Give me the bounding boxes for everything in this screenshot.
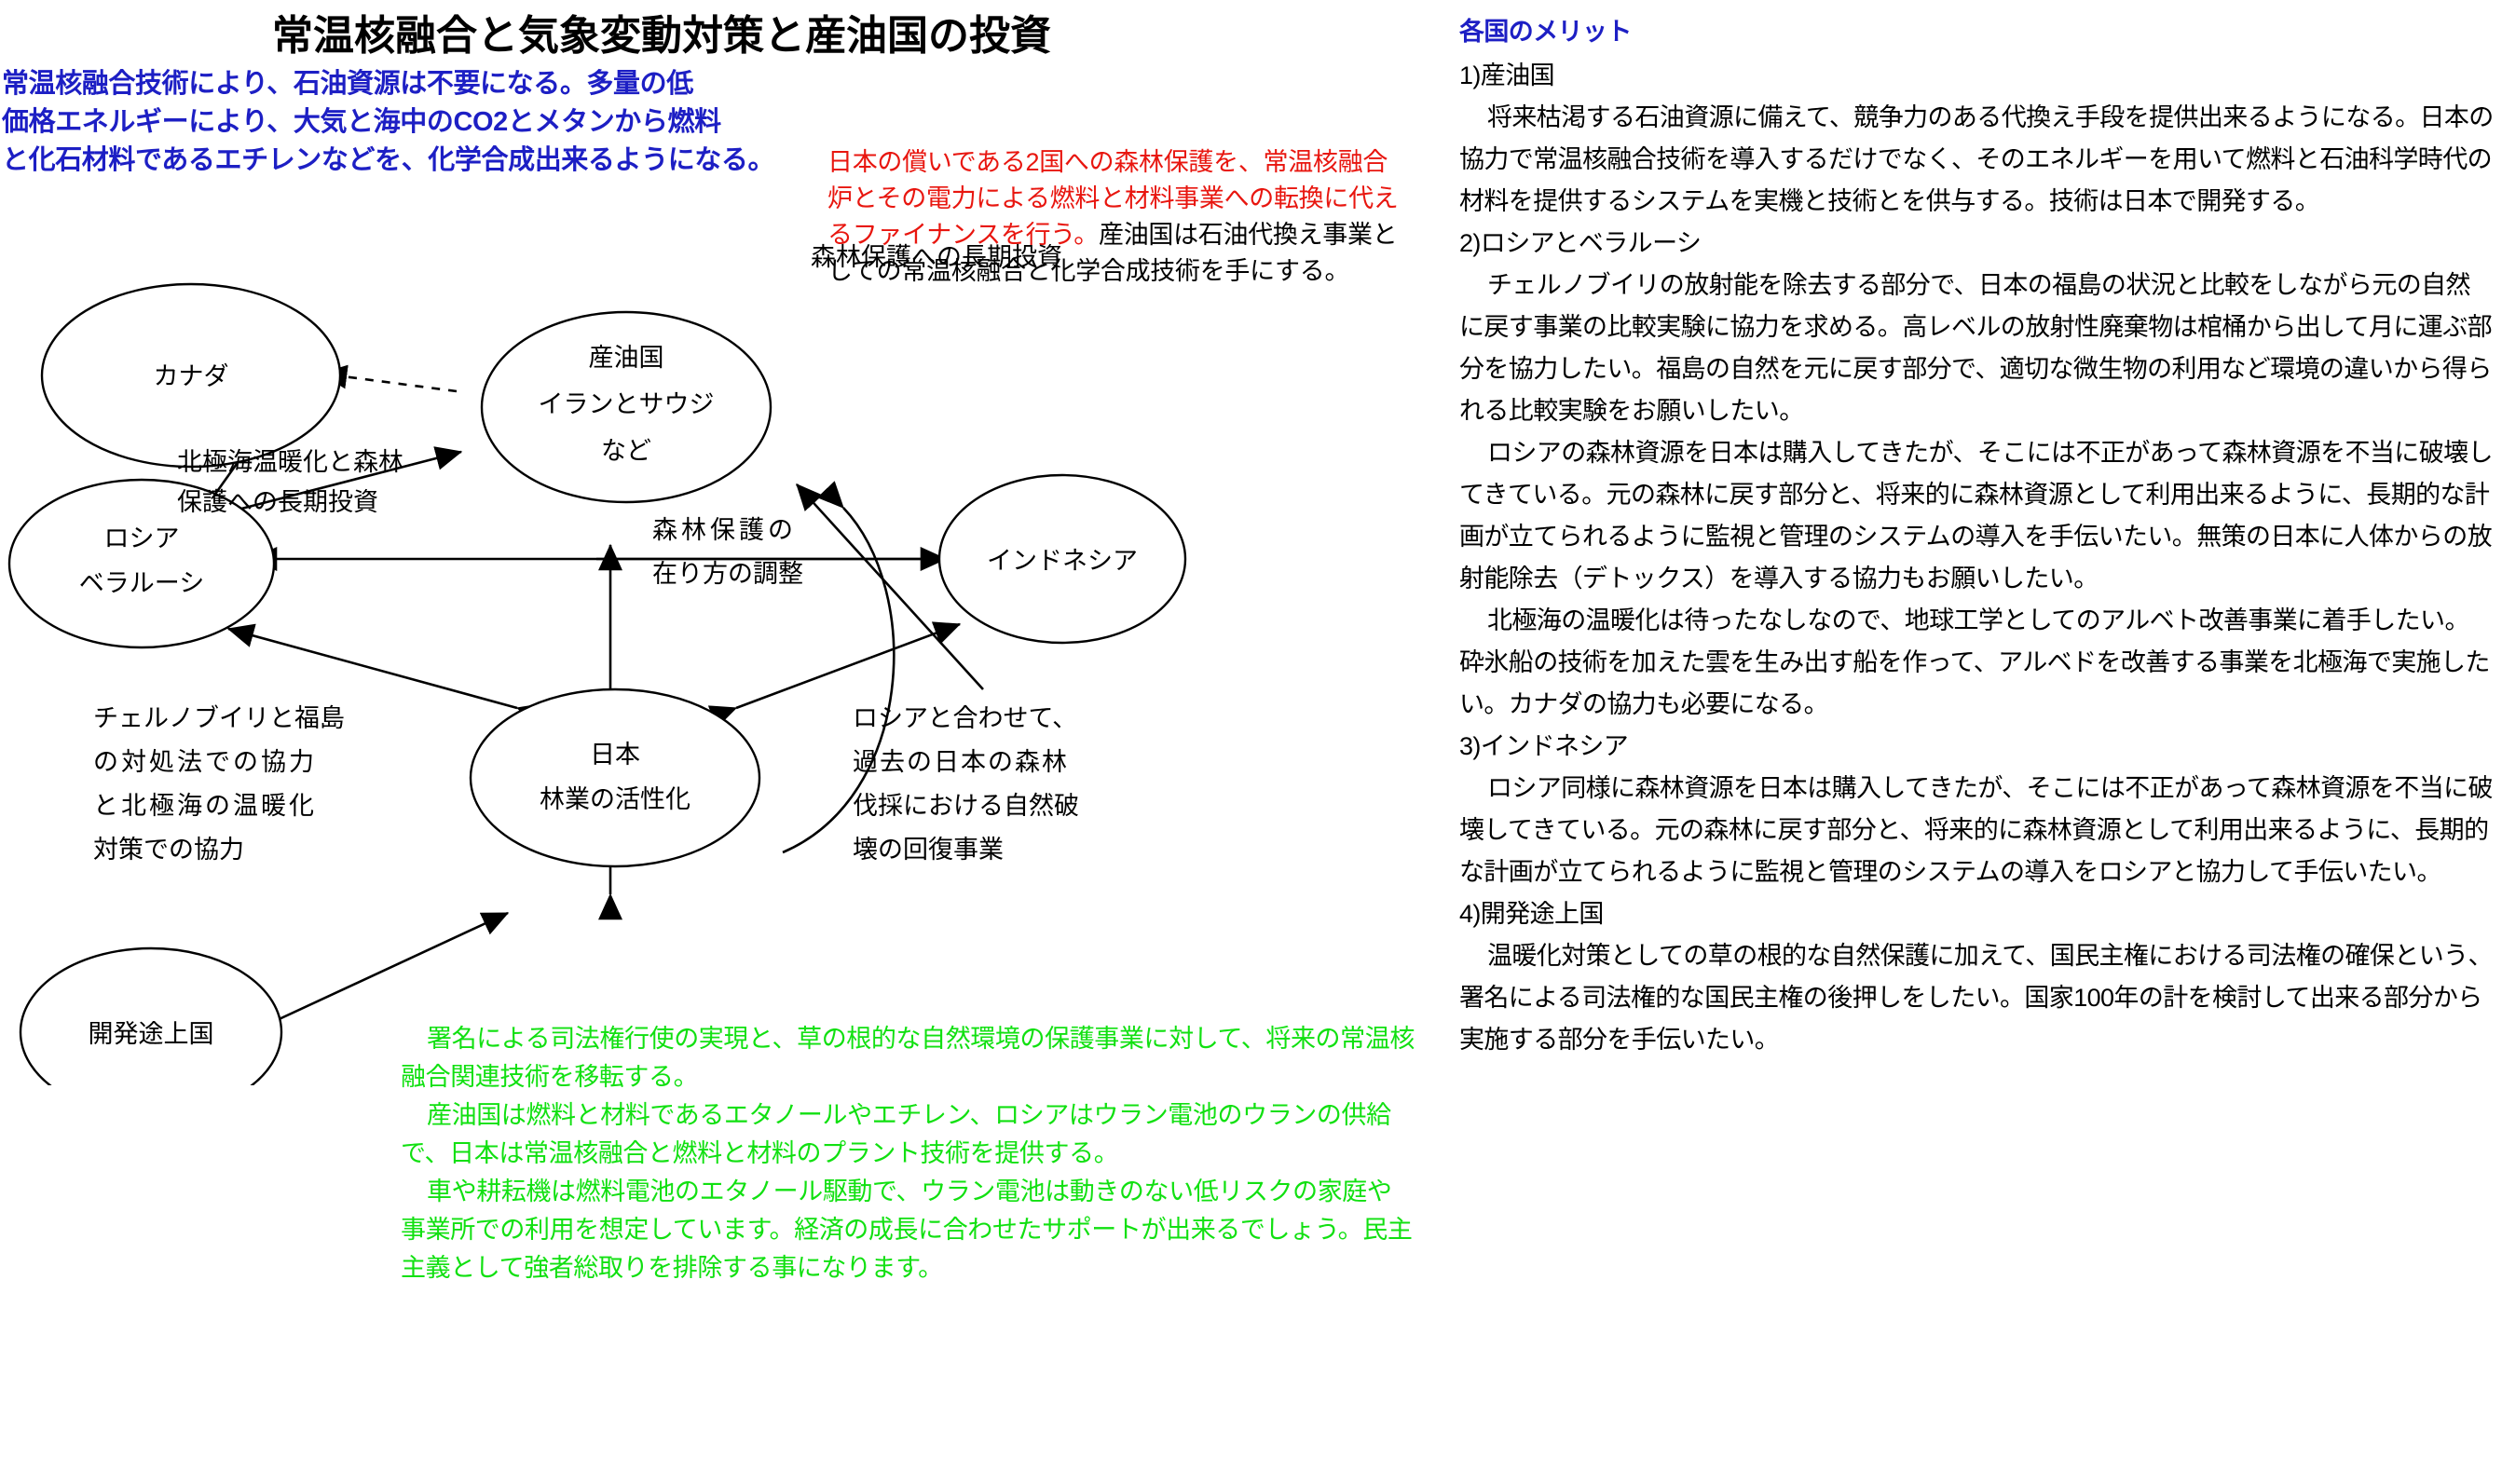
node-oil-label-3: など [601, 437, 651, 465]
page-title: 常温核融合と気象変動対策と産油国の投資 [0, 2, 1323, 61]
country-relationship-diagram: canada (dotted) --> [0, 200, 1305, 1085]
edge-label-forest-adjustment-line-1: 森林保護の [652, 516, 797, 544]
merit-section-3-body: ロシア同様に森林資源を日本は購入してきたが、そこには不正があって森林資源を不当に… [1459, 768, 2494, 893]
merit-section-2-heading: 2)ロシアとベラルーシ [1459, 223, 2494, 265]
merit-section-4-body: 温暖化対策としての草の根的な自然保護に加えて、国民主権における司法権の確保という… [1459, 935, 2494, 1061]
node-russia-label-1: ロシア [104, 524, 180, 552]
green-note-paragraph-3: 車や耕耘機は燃料電池のエタノール駆動で、ウラン電池は動きのない低リスクの家庭や事… [401, 1173, 1416, 1287]
edge-label-canada-line-1: 北極海温暖化と森林 [177, 448, 403, 476]
merit-section-4-heading: 4)開発途上国 [1459, 893, 2494, 935]
edge-oil-to-canada [321, 374, 457, 391]
node-russia-label-2: ベラルーシ [79, 569, 204, 597]
node-indonesia-label: インドネシア [987, 547, 1138, 575]
green-note-block: 署名による司法権行使の実現と、草の根的な自然環境の保護事業に対して、将来の常温核… [401, 1020, 1416, 1287]
edge-label-forest-adjustment-line-2: 在り方の調整 [652, 560, 803, 588]
edge-russia-japan [228, 629, 517, 708]
node-developing-label: 開発途上国 [89, 1020, 214, 1048]
edge-label-russia-together-line-2: 過去の日本の森林 [853, 748, 1069, 776]
merit-section-3-heading: 3)インドネシア [1459, 726, 2494, 768]
green-note-paragraph-1: 署名による司法権行使の実現と、草の根的な自然環境の保護事業に対して、将来の常温核… [401, 1020, 1416, 1096]
merit-section-2-body-3: 北極海の温暖化は待ったなしなので、地球工学としてのアルベト改善事業に着手したい。… [1459, 600, 2494, 726]
merit-section-1-body: 将来枯渇する石油資源に備えて、競争力のある代換え手段を提供出来るようになる。日本… [1459, 97, 2494, 223]
intro-blue-text: 常温核融合技術により、石油資源は不要になる。多量の低 価格エネルギーにより、大気… [2, 65, 841, 180]
edge-label-forest-adjustment: 森林保護の 在り方の調整 [652, 516, 803, 588]
edge-label-forest-long-term-line-1: 森林保護への長期投資 [811, 243, 1062, 271]
merit-section-2-body-2: ロシアの森林資源を日本は購入してきたが、そこには不正があって森林資源を不当に破壊… [1459, 432, 2494, 600]
edge-label-chernobyl-line-2: の対処法での協力 [93, 748, 317, 776]
node-indonesia[interactable]: インドネシア [939, 475, 1185, 643]
edge-label-chernobyl: チェルノブイリと福島 の対処法での協力 と北極海の温暖化 対策での協力 [93, 704, 345, 864]
merits-column: 各国のメリット 1)産油国 将来枯渇する石油資源に備えて、競争力のある代換え手段… [1459, 11, 2494, 1464]
left-column: 常温核融合と気象変動対策と産油国の投資 常温核融合技術により、石油資源は不要にな… [0, 0, 1454, 1484]
edge-label-russia-together-line-4: 壊の回復事業 [853, 836, 1004, 864]
page-root: 常温核融合と気象変動対策と産油国の投資 常温核融合技術により、石油資源は不要にな… [0, 0, 2502, 1484]
intro-line-1: 常温核融合技術により、石油資源は不要になる。多量の低 [2, 65, 841, 103]
merit-section-2-body: チェルノブイリの放射能を除去する部分で、日本の福島の状況と比較をしながら元の自然… [1459, 265, 2494, 432]
edge-label-chernobyl-line-1: チェルノブイリと福島 [93, 704, 345, 732]
edge-label-chernobyl-line-3: と北極海の温暖化 [93, 792, 317, 820]
node-oil-label-2: イランとサウジ [539, 390, 715, 418]
edge-developing-japan [247, 913, 508, 1034]
node-oil-label-1: 産油国 [589, 344, 664, 372]
edge-label-russia-together-line-3: 伐採における自然破 [853, 792, 1079, 820]
node-developing[interactable]: 開発途上国 [21, 948, 281, 1085]
edge-label-canada-line-2: 保護への長期投資 [177, 488, 378, 516]
edge-japan-indonesia [736, 624, 960, 708]
node-canada[interactable]: カナダ [42, 284, 340, 467]
intro-line-2: 価格エネルギーにより、大気と海中のCO2とメタンから燃料 [2, 103, 841, 142]
node-japan-label-2: 林業の活性化 [540, 785, 690, 813]
node-oil-producing[interactable]: 産油国 イランとサウジ など [482, 312, 771, 502]
edge-label-chernobyl-line-4: 対策での協力 [93, 836, 244, 864]
edge-label-forest-long-term: 森林保護への長期投資 [811, 243, 1062, 271]
node-canada-label: カナダ [154, 362, 229, 390]
merits-heading: 各国のメリット [1459, 11, 2494, 53]
node-japan[interactable]: 日本 林業の活性化 [471, 689, 759, 866]
edge-label-russia-together-line-1: ロシアと合わせて、 [853, 704, 1077, 732]
edge-label-canada-investment: 北極海温暖化と森林 保護への長期投資 [177, 448, 403, 516]
merit-section-1-heading: 1)産油国 [1459, 55, 2494, 97]
green-note-paragraph-2: 産油国は燃料と材料であるエタノールやエチレン、ロシアはウラン電池のウランの供給で… [401, 1096, 1416, 1173]
edge-label-russia-together: ロシアと合わせて、 過去の日本の森林 伐採における自然破 壊の回復事業 [853, 704, 1079, 864]
intro-line-3: と化石材料であるエチレンなどを、化学合成出来るようになる。 [2, 142, 841, 180]
node-japan-label-1: 日本 [590, 741, 640, 769]
